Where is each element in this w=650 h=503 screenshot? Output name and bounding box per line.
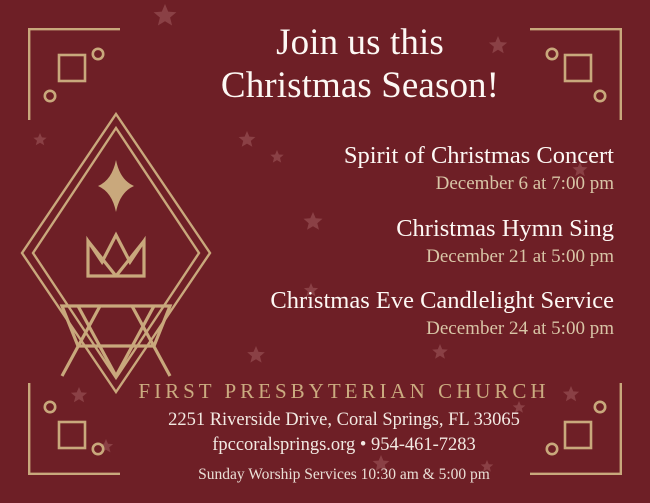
square-outline: [59, 55, 85, 81]
background-star: [432, 344, 448, 359]
corner-ornament-top-right: [530, 28, 622, 120]
background-star: [33, 133, 46, 145]
diamond-outline-inner: [33, 128, 199, 378]
manger: [62, 306, 170, 376]
corner-ornament-top-left: [28, 28, 120, 120]
nativity-emblem: [16, 108, 216, 398]
corner-rule: [29, 29, 120, 120]
four-point-star: [98, 160, 134, 212]
event-item: Spirit of Christmas Concert December 6 a…: [194, 142, 614, 197]
event-title: Christmas Hymn Sing: [194, 215, 614, 244]
event-date: December 6 at 7:00 pm: [194, 172, 614, 197]
event-date: December 24 at 5:00 pm: [194, 317, 614, 342]
church-name: FIRST PRESBYTERIAN CHURCH: [38, 378, 650, 404]
small-circle: [93, 49, 103, 59]
event-item: Christmas Hymn Sing December 21 at 5:00 …: [194, 215, 614, 270]
small-circle: [595, 91, 605, 101]
events-list: Spirit of Christmas Concert December 6 a…: [194, 142, 614, 342]
footer: FIRST PRESBYTERIAN CHURCH 2251 Riverside…: [0, 378, 650, 485]
background-star: [247, 346, 265, 363]
event-date: December 21 at 5:00 pm: [194, 245, 614, 270]
headline-line-2: Christmas Season!: [180, 65, 540, 108]
event-item: Christmas Eve Candlelight Service Decemb…: [194, 287, 614, 342]
crown: [88, 235, 144, 276]
event-title: Christmas Eve Candlelight Service: [194, 287, 614, 316]
headline-line-1: Join us this: [180, 22, 540, 65]
christmas-flyer: Join us this Christmas Season! Spirit of…: [0, 0, 650, 503]
headline: Join us this Christmas Season!: [180, 22, 540, 108]
event-title: Spirit of Christmas Concert: [194, 142, 614, 171]
church-contact: fpccoralsprings.org • 954-461-7283: [38, 433, 650, 458]
square-outline: [565, 55, 591, 81]
church-address: 2251 Riverside Drive, Coral Springs, FL …: [38, 408, 650, 433]
small-circle: [45, 91, 55, 101]
background-star: [154, 4, 177, 26]
small-circle: [547, 49, 557, 59]
worship-times: Sunday Worship Services 10:30 am & 5:00 …: [38, 465, 650, 485]
diamond-outline-outer: [22, 114, 210, 392]
corner-rule: [530, 29, 621, 120]
